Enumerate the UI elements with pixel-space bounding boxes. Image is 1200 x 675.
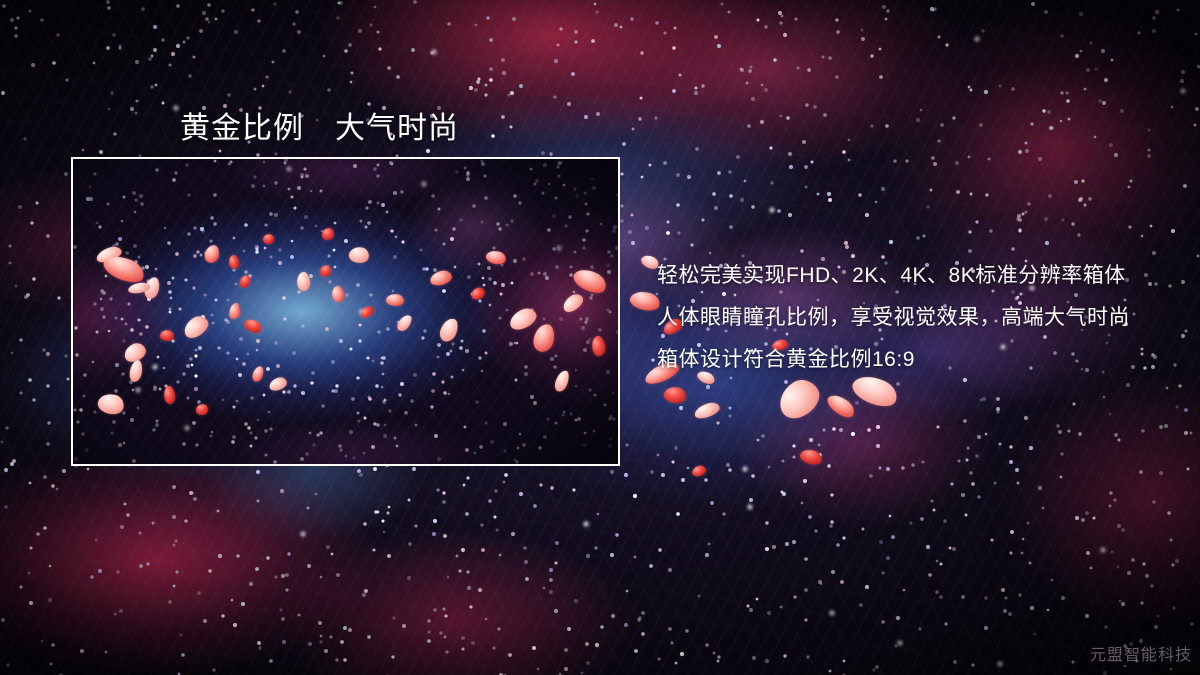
preview-nebula-magenta — [73, 159, 618, 464]
body-text-line-3: 箱体设计符合黄金比例16:9 — [657, 343, 915, 373]
body-text-line-2: 人体眼睛瞳孔比例，享受视觉效果，高端大气时尚 — [657, 301, 1130, 331]
preview-frame-16x9 — [71, 157, 620, 466]
preview-nebula-core — [73, 159, 618, 464]
rose-petal — [691, 464, 707, 477]
presentation-slide: 黄金比例 大气时尚 轻松完美实现FHD、2K、4K、8K标准分辨率箱体人体眼睛瞳… — [0, 0, 1200, 675]
rose-petal — [693, 400, 722, 420]
rose-petal — [662, 385, 687, 406]
rose-petal — [824, 390, 857, 421]
page-title: 黄金比例 大气时尚 — [180, 103, 459, 147]
starfield-background — [0, 0, 2, 2]
starfield-preview — [73, 159, 75, 161]
rose-petal — [798, 447, 823, 468]
rose-petal — [772, 373, 826, 424]
body-text-line-1: 轻松完美实现FHD、2K、4K、8K标准分辨率箱体 — [657, 259, 1126, 289]
rose-petal — [849, 370, 902, 412]
rose-petal — [322, 228, 334, 240]
company-watermark: 元盟智能科技 — [1090, 641, 1192, 665]
preview-nebula-filaments — [73, 159, 618, 464]
preview-frame-content — [73, 159, 618, 464]
preview-vignette — [73, 159, 618, 464]
